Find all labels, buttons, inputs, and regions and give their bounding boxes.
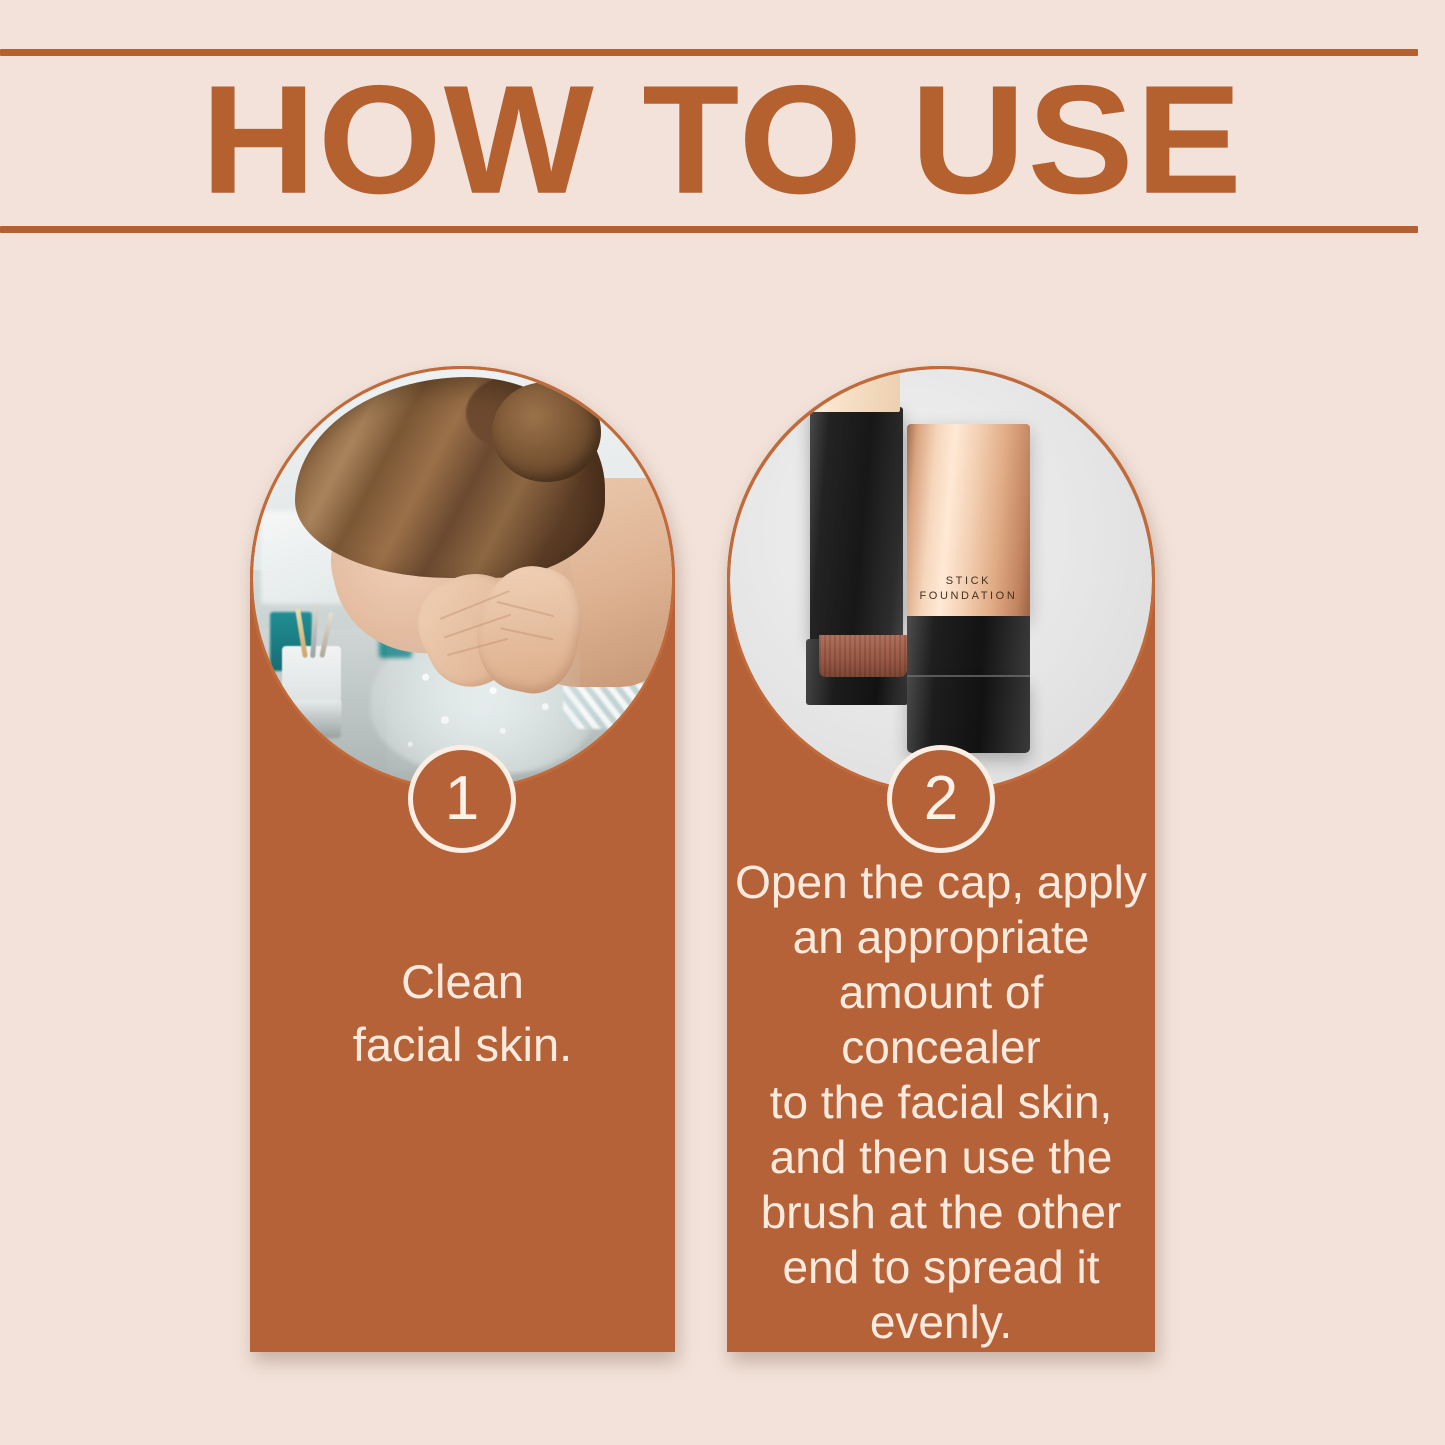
- how-to-use-infographic: HOW TO USE: [0, 0, 1445, 1445]
- rose-gold-foundation-stick: STICK FOUNDATION: [907, 424, 1029, 618]
- foundation-stick-illustration: STICK FOUNDATION: [730, 369, 1152, 791]
- step-1-photo-inner: [253, 369, 672, 788]
- step-2-description: Open the cap, apply an appropriate amoun…: [727, 855, 1155, 1350]
- step-badge-1-number: 1: [445, 768, 479, 830]
- step-badge-2-number: 2: [924, 768, 958, 830]
- header-bottom-rule: [0, 226, 1418, 233]
- black-foundation-stick: [810, 407, 903, 643]
- step-badge-2: 2: [887, 745, 995, 853]
- product-label-line1: STICK: [907, 574, 1029, 589]
- step-1-description: Clean facial skin.: [250, 950, 675, 1076]
- step-card-1: 1 Clean facial skin.: [250, 366, 675, 1352]
- gold-stick-base: [907, 616, 1029, 679]
- gold-stick-cap: [907, 677, 1029, 753]
- header: HOW TO USE: [0, 0, 1445, 250]
- step-1-photo: [250, 366, 675, 791]
- step-2-photo: STICK FOUNDATION: [727, 366, 1155, 794]
- brush-end: [819, 635, 908, 677]
- step-card-2: STICK FOUNDATION 2 Open the cap, apply a…: [727, 366, 1155, 1352]
- product-label: STICK FOUNDATION: [907, 574, 1029, 604]
- bathroom-scene-illustration: [253, 369, 672, 788]
- product-label-line2: FOUNDATION: [907, 589, 1029, 604]
- step-badge-1: 1: [408, 745, 516, 853]
- page-title: HOW TO USE: [0, 62, 1445, 217]
- step-2-photo-inner: STICK FOUNDATION: [730, 369, 1152, 791]
